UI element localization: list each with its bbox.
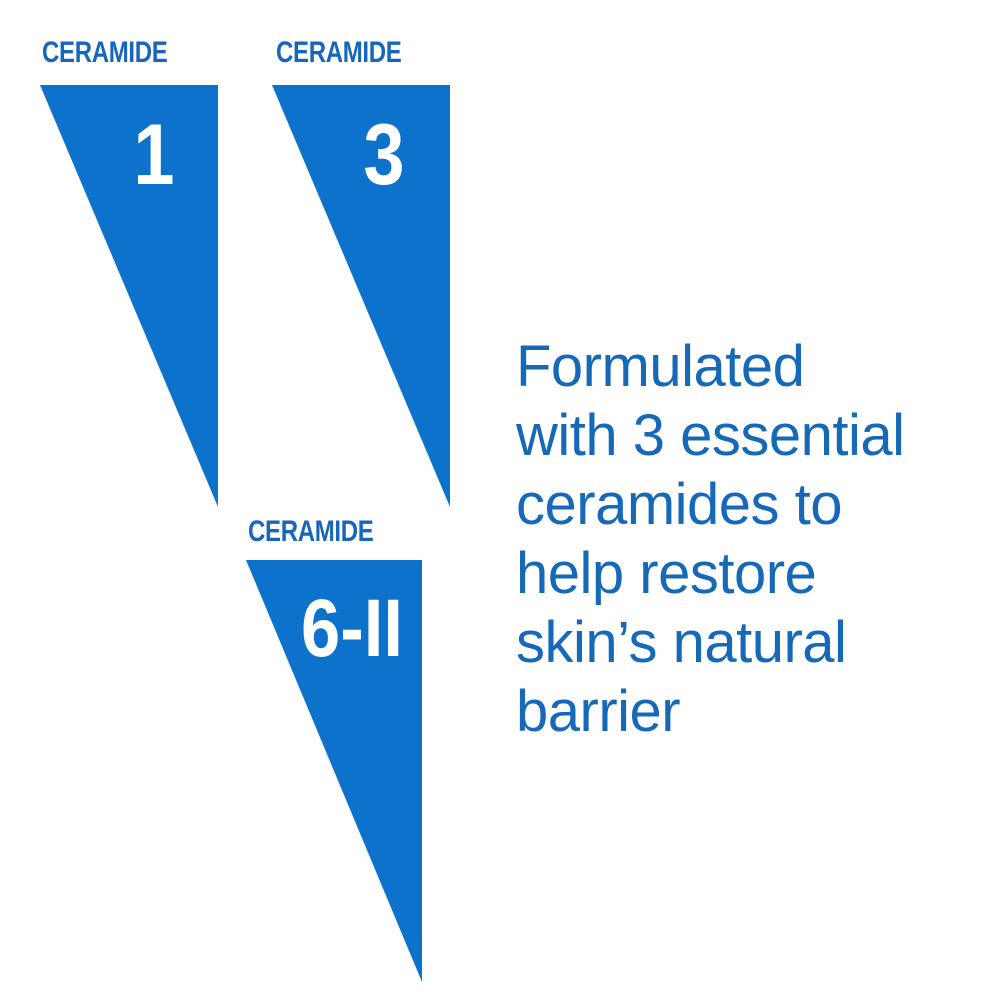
description-text: Formulated with 3 essential ceramides to… bbox=[516, 332, 956, 746]
ceramide-number-1: 1 bbox=[114, 112, 193, 198]
ceramide-number-3: 3 bbox=[344, 112, 423, 198]
ceramide-label-6-ii: CERAMIDE bbox=[248, 517, 373, 547]
ceramide-number-6-ii: 6-II bbox=[292, 588, 412, 670]
ceramide-infographic: CERAMIDE 1 CERAMIDE 3 CERAMIDE 6-II Form… bbox=[0, 0, 1000, 1000]
ceramide-label-1: CERAMIDE bbox=[42, 38, 167, 68]
ceramide-label-3: CERAMIDE bbox=[276, 38, 401, 68]
